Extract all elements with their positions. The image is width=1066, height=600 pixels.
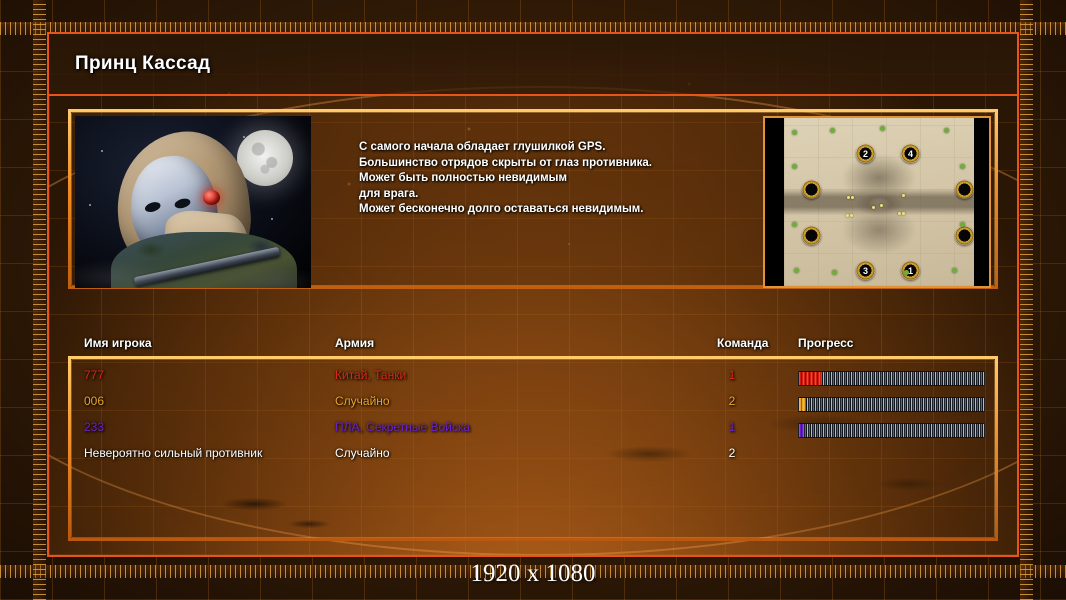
player-army: Китай, Танки — [335, 368, 406, 382]
player-progress-bar — [798, 371, 985, 386]
player-progress-fill — [799, 398, 806, 411]
ruler-left — [33, 0, 46, 600]
smoke-overlay — [75, 228, 311, 288]
player-name: Невероятно сильный противник — [84, 446, 262, 460]
minimap-resource-dot — [960, 164, 965, 169]
page-title: Принц Кассад — [75, 53, 210, 75]
minimap-unit-dot — [880, 204, 883, 207]
minimap-spawn-point[interactable] — [802, 180, 821, 199]
game-screen: Принц Кассад С самого начала обладает гл… — [0, 0, 1066, 600]
minimap-resource-dot — [960, 222, 965, 227]
description-line: С самого начала обладает глушилкой GPS. — [359, 140, 759, 156]
minimap-resource-dot — [830, 128, 835, 133]
description-line: для врага. — [359, 187, 759, 203]
column-header-army: Армия — [335, 336, 374, 350]
player-progress-fill — [799, 424, 804, 437]
minimap-resource-dot — [794, 268, 799, 273]
minimap-resource-dot — [832, 270, 837, 275]
minimap-spawn-point[interactable] — [955, 180, 974, 199]
general-portrait — [75, 116, 311, 288]
minimap[interactable]: 2431 — [784, 118, 974, 286]
minimap-unit-dot — [902, 212, 905, 215]
player-progress-bar — [798, 423, 985, 438]
player-row[interactable]: 777Китай, Танки1 — [71, 368, 995, 394]
minimap-spawn-point[interactable] — [955, 226, 974, 245]
player-team: 2 — [717, 394, 747, 408]
column-header-team: Команда — [717, 336, 768, 350]
minimap-unit-dot — [902, 194, 905, 197]
minimap-unit-dot — [850, 214, 853, 217]
moon-icon — [237, 130, 293, 186]
minimap-unit-dot — [851, 196, 854, 199]
player-army: Случайно — [335, 394, 390, 408]
minimap-resource-dot — [944, 128, 949, 133]
player-team: 1 — [717, 420, 747, 434]
ruler-right — [1020, 0, 1033, 600]
minimap-resource-dot — [904, 270, 909, 275]
description-line: Может бесконечно долго оставаться невиди… — [359, 202, 759, 218]
minimap-unit-dot — [872, 206, 875, 209]
resolution-overlay-label: 1920 x 1080 — [0, 560, 1066, 588]
column-header-progress: Прогресс — [798, 336, 853, 350]
general-description: С самого начала обладает глушилкой GPS.Б… — [359, 140, 759, 218]
minimap-resource-dot — [952, 268, 957, 273]
minimap-spawn-point[interactable]: 2 — [856, 144, 875, 163]
player-name: 006 — [84, 394, 104, 408]
player-row[interactable]: 233ПЛА, Секретные Войска1 — [71, 420, 995, 446]
column-header-name: Имя игрока — [84, 336, 152, 350]
player-name: 777 — [84, 368, 104, 382]
description-line: Может быть полностью невидимым — [359, 171, 759, 187]
main-panel: Принц Кассад С самого начала обладает гл… — [47, 32, 1019, 557]
minimap-spawn-point[interactable]: 4 — [901, 144, 920, 163]
minimap-unit-dot — [898, 212, 901, 215]
minimap-resource-dot — [792, 164, 797, 169]
player-army: ПЛА, Секретные Войска — [335, 420, 470, 434]
player-name: 233 — [84, 420, 104, 434]
minimap-resource-dot — [880, 126, 885, 131]
player-list-panel: 777Китай, Танки1006Случайно2233ПЛА, Секр… — [68, 356, 998, 541]
description-line: Большинство отрядов скрыты от глаз проти… — [359, 156, 759, 172]
minimap-resource-dot — [792, 222, 797, 227]
player-progress-fill — [799, 372, 821, 385]
red-eye-icon — [203, 190, 220, 205]
title-bar: Принц Кассад — [49, 34, 1017, 96]
player-list-header: Имя игрока Армия Команда Прогресс — [68, 336, 998, 356]
minimap-frame[interactable]: 2431 — [763, 116, 991, 288]
general-info-panel: С самого начала обладает глушилкой GPS.Б… — [68, 109, 998, 289]
player-team: 2 — [717, 446, 747, 460]
minimap-resource-dot — [792, 130, 797, 135]
player-army: Случайно — [335, 446, 390, 460]
player-team: 1 — [717, 368, 747, 382]
minimap-spawn-point[interactable] — [802, 226, 821, 245]
minimap-unit-dot — [847, 196, 850, 199]
player-row[interactable]: 006Случайно2 — [71, 394, 995, 420]
minimap-unit-dot — [846, 214, 849, 217]
minimap-spawn-point[interactable]: 3 — [856, 261, 875, 280]
player-progress-bar — [798, 397, 985, 412]
player-row[interactable]: Невероятно сильный противникСлучайно2 — [71, 446, 995, 472]
